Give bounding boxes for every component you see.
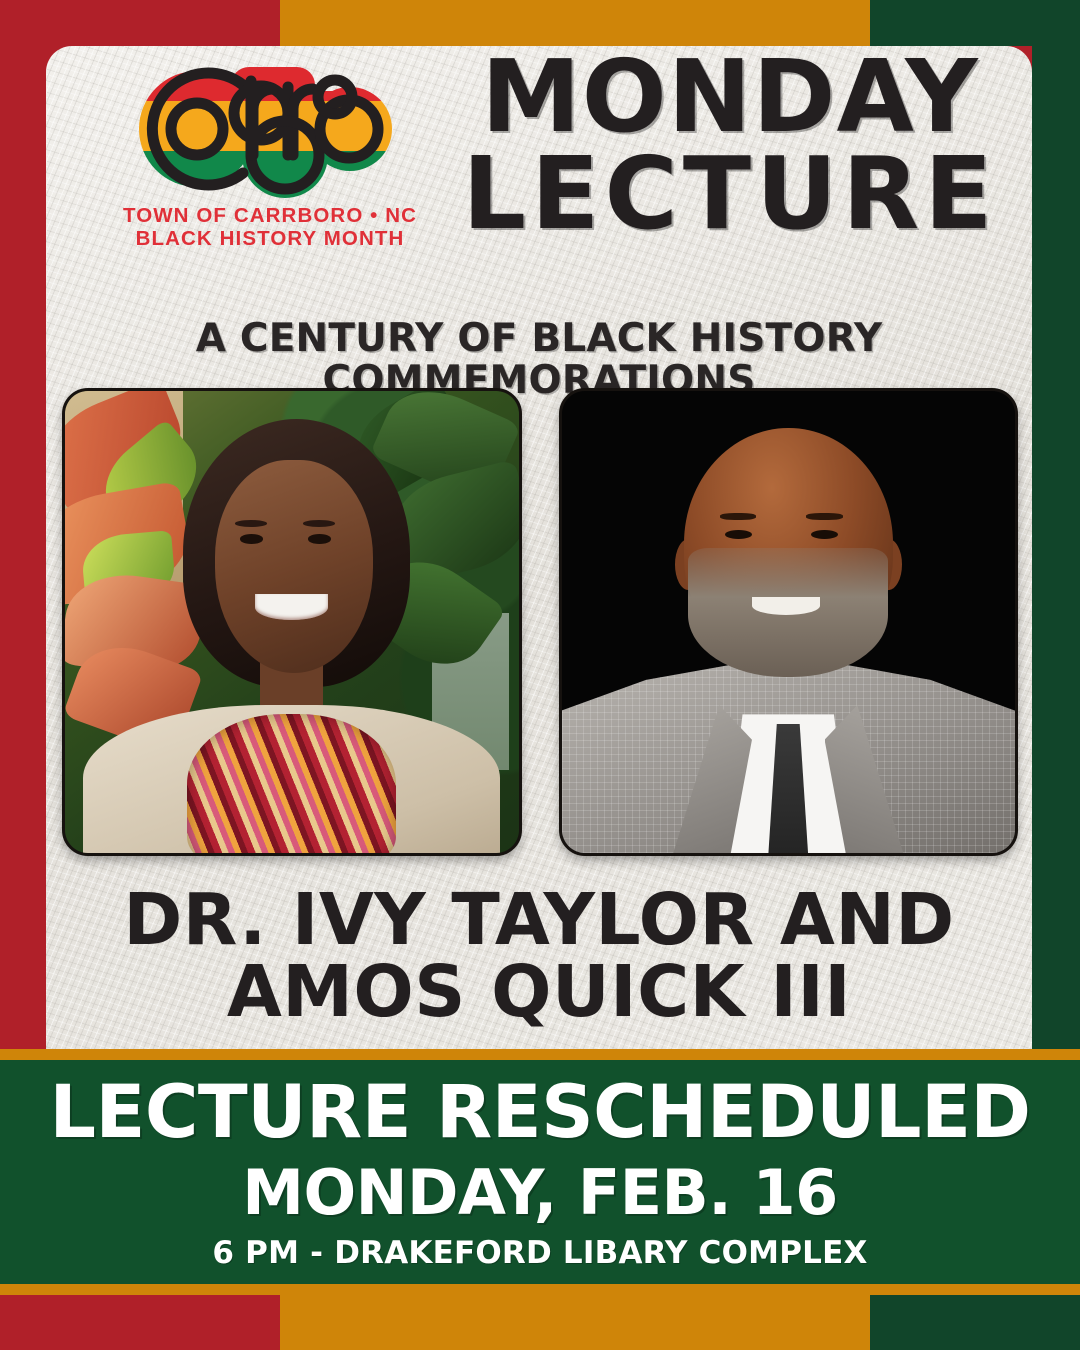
notice-rule-top: [0, 1049, 1080, 1060]
carrboro-logo-icon: [135, 51, 405, 201]
notice-headline: LECTURE RESCHEDULED: [49, 1076, 1030, 1149]
photo-dr-ivy-taylor: [62, 388, 522, 856]
notice-details: 6 PM - DRAKEFORD LIBARY COMPLEX: [212, 1238, 867, 1269]
border-band-bottom-gold: [280, 1294, 870, 1350]
speaker-names-line-2: AMOS QUICK III: [46, 956, 1032, 1028]
border-band-bottom-green: [870, 1294, 1080, 1350]
poster-header: TOWN OF CARRBORO • NC BLACK HISTORY MONT…: [46, 46, 1032, 276]
page-title-line-2: LECTURE: [428, 147, 1032, 240]
carrboro-logo-block: TOWN OF CARRBORO • NC BLACK HISTORY MONT…: [110, 51, 430, 251]
black-history-month-lecture-poster: TOWN OF CARRBORO • NC BLACK HISTORY MONT…: [0, 0, 1080, 1350]
border-band-bottom-red: [0, 1294, 280, 1350]
notice-body: LECTURE RESCHEDULED MONDAY, FEB. 16 6 PM…: [0, 1060, 1080, 1284]
speaker-photo-gallery: [62, 388, 1018, 852]
page-title: MONDAY LECTURE: [428, 50, 1032, 240]
border-band-top-green: [870, 0, 1080, 46]
photo-amos-quick-iii: [559, 388, 1019, 856]
border-band-top-gold: [280, 0, 870, 46]
logo-caption: TOWN OF CARRBORO • NC BLACK HISTORY MONT…: [110, 205, 430, 251]
notice-rule-bottom: [0, 1284, 1080, 1295]
speaker-names: DR. IVY TAYLOR AND AMOS QUICK III: [46, 884, 1032, 1029]
border-band-top-red: [0, 0, 280, 46]
reschedule-notice-banner: LECTURE RESCHEDULED MONDAY, FEB. 16 6 PM…: [0, 1049, 1080, 1295]
notice-date: MONDAY, FEB. 16: [242, 1162, 837, 1224]
page-subtitle-line-1: A CENTURY OF BLACK HISTORY: [46, 318, 1032, 360]
logo-caption-line-2: BLACK HISTORY MONTH: [110, 228, 430, 251]
logo-caption-line-1: TOWN OF CARRBORO • NC: [110, 205, 430, 228]
speaker-names-line-1: DR. IVY TAYLOR AND: [46, 884, 1032, 956]
page-title-line-1: MONDAY: [428, 50, 1032, 143]
